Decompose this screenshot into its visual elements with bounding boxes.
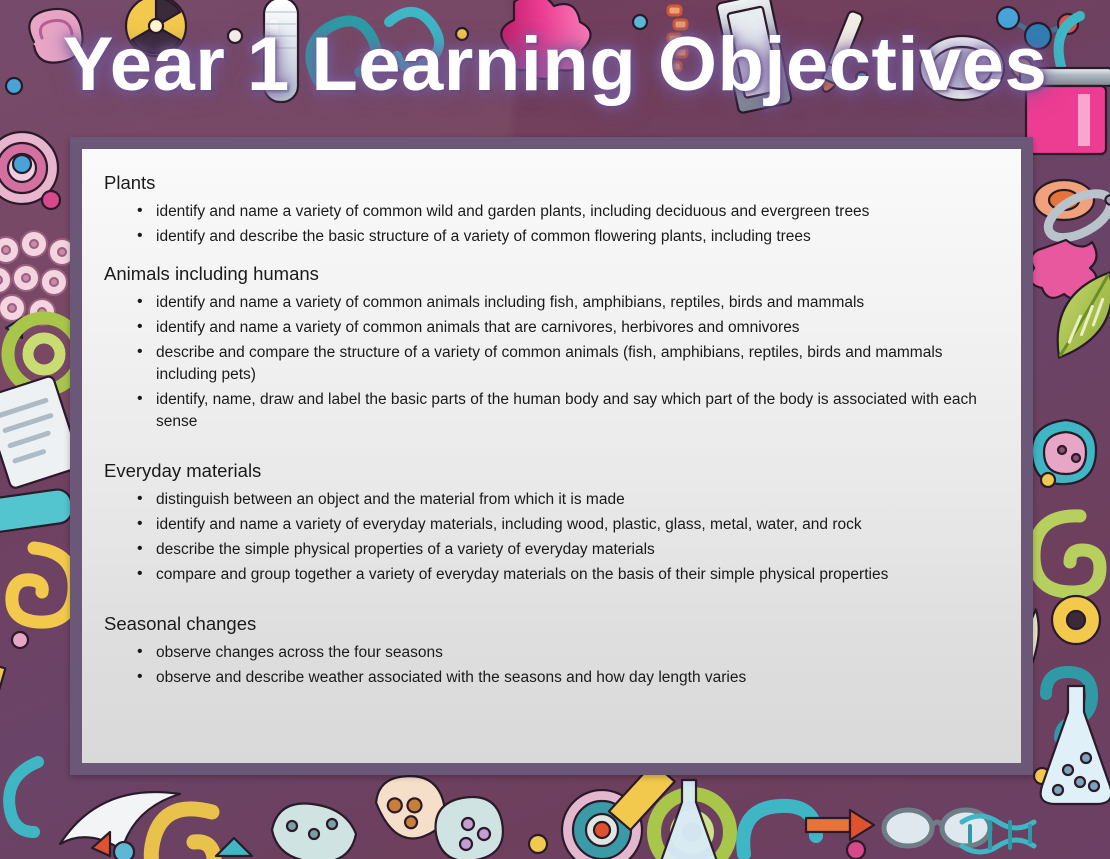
- section-heading-animals-including-humans: Animals including humans: [104, 262, 995, 286]
- list-item: describe and compare the structure of a …: [104, 342, 995, 386]
- list-item: distinguish between an object and the ma…: [104, 489, 995, 511]
- list-item: describe the simple physical properties …: [104, 539, 995, 561]
- bullet-list-plants: identify and name a variety of common wi…: [104, 201, 995, 248]
- bullet-list-seasonal-changes: observe changes across the four seasons …: [104, 642, 995, 689]
- title-band: Year 1 Learning Objectives: [0, 0, 1110, 130]
- content-card: Plants identify and name a variety of co…: [70, 137, 1033, 775]
- content-card-inner: Plants identify and name a variety of co…: [82, 149, 1021, 763]
- slide-canvas: Year 1 Learning Objectives Plants identi…: [0, 0, 1110, 859]
- bullet-list-everyday-materials: distinguish between an object and the ma…: [104, 489, 995, 586]
- list-item: identify, name, draw and label the basic…: [104, 389, 995, 433]
- list-item: observe and describe weather associated …: [104, 667, 995, 689]
- list-item: identify and describe the basic structur…: [104, 226, 995, 248]
- list-item: identify and name a variety of everyday …: [104, 514, 995, 536]
- section-heading-seasonal-changes: Seasonal changes: [104, 612, 995, 636]
- page-title: Year 1 Learning Objectives: [63, 27, 1048, 103]
- section-animals-including-humans: Animals including humans identify and na…: [104, 262, 995, 433]
- section-plants: Plants identify and name a variety of co…: [104, 171, 995, 248]
- section-heading-everyday-materials: Everyday materials: [104, 459, 995, 483]
- bullet-list-animals-including-humans: identify and name a variety of common an…: [104, 292, 995, 433]
- list-item: identify and name a variety of common an…: [104, 317, 995, 339]
- list-item: observe changes across the four seasons: [104, 642, 995, 664]
- section-heading-plants: Plants: [104, 171, 995, 195]
- section-seasonal-changes: Seasonal changes observe changes across …: [104, 612, 995, 689]
- list-item: identify and name a variety of common wi…: [104, 201, 995, 223]
- section-everyday-materials: Everyday materials distinguish between a…: [104, 459, 995, 586]
- list-item: compare and group together a variety of …: [104, 564, 995, 586]
- list-item: identify and name a variety of common an…: [104, 292, 995, 314]
